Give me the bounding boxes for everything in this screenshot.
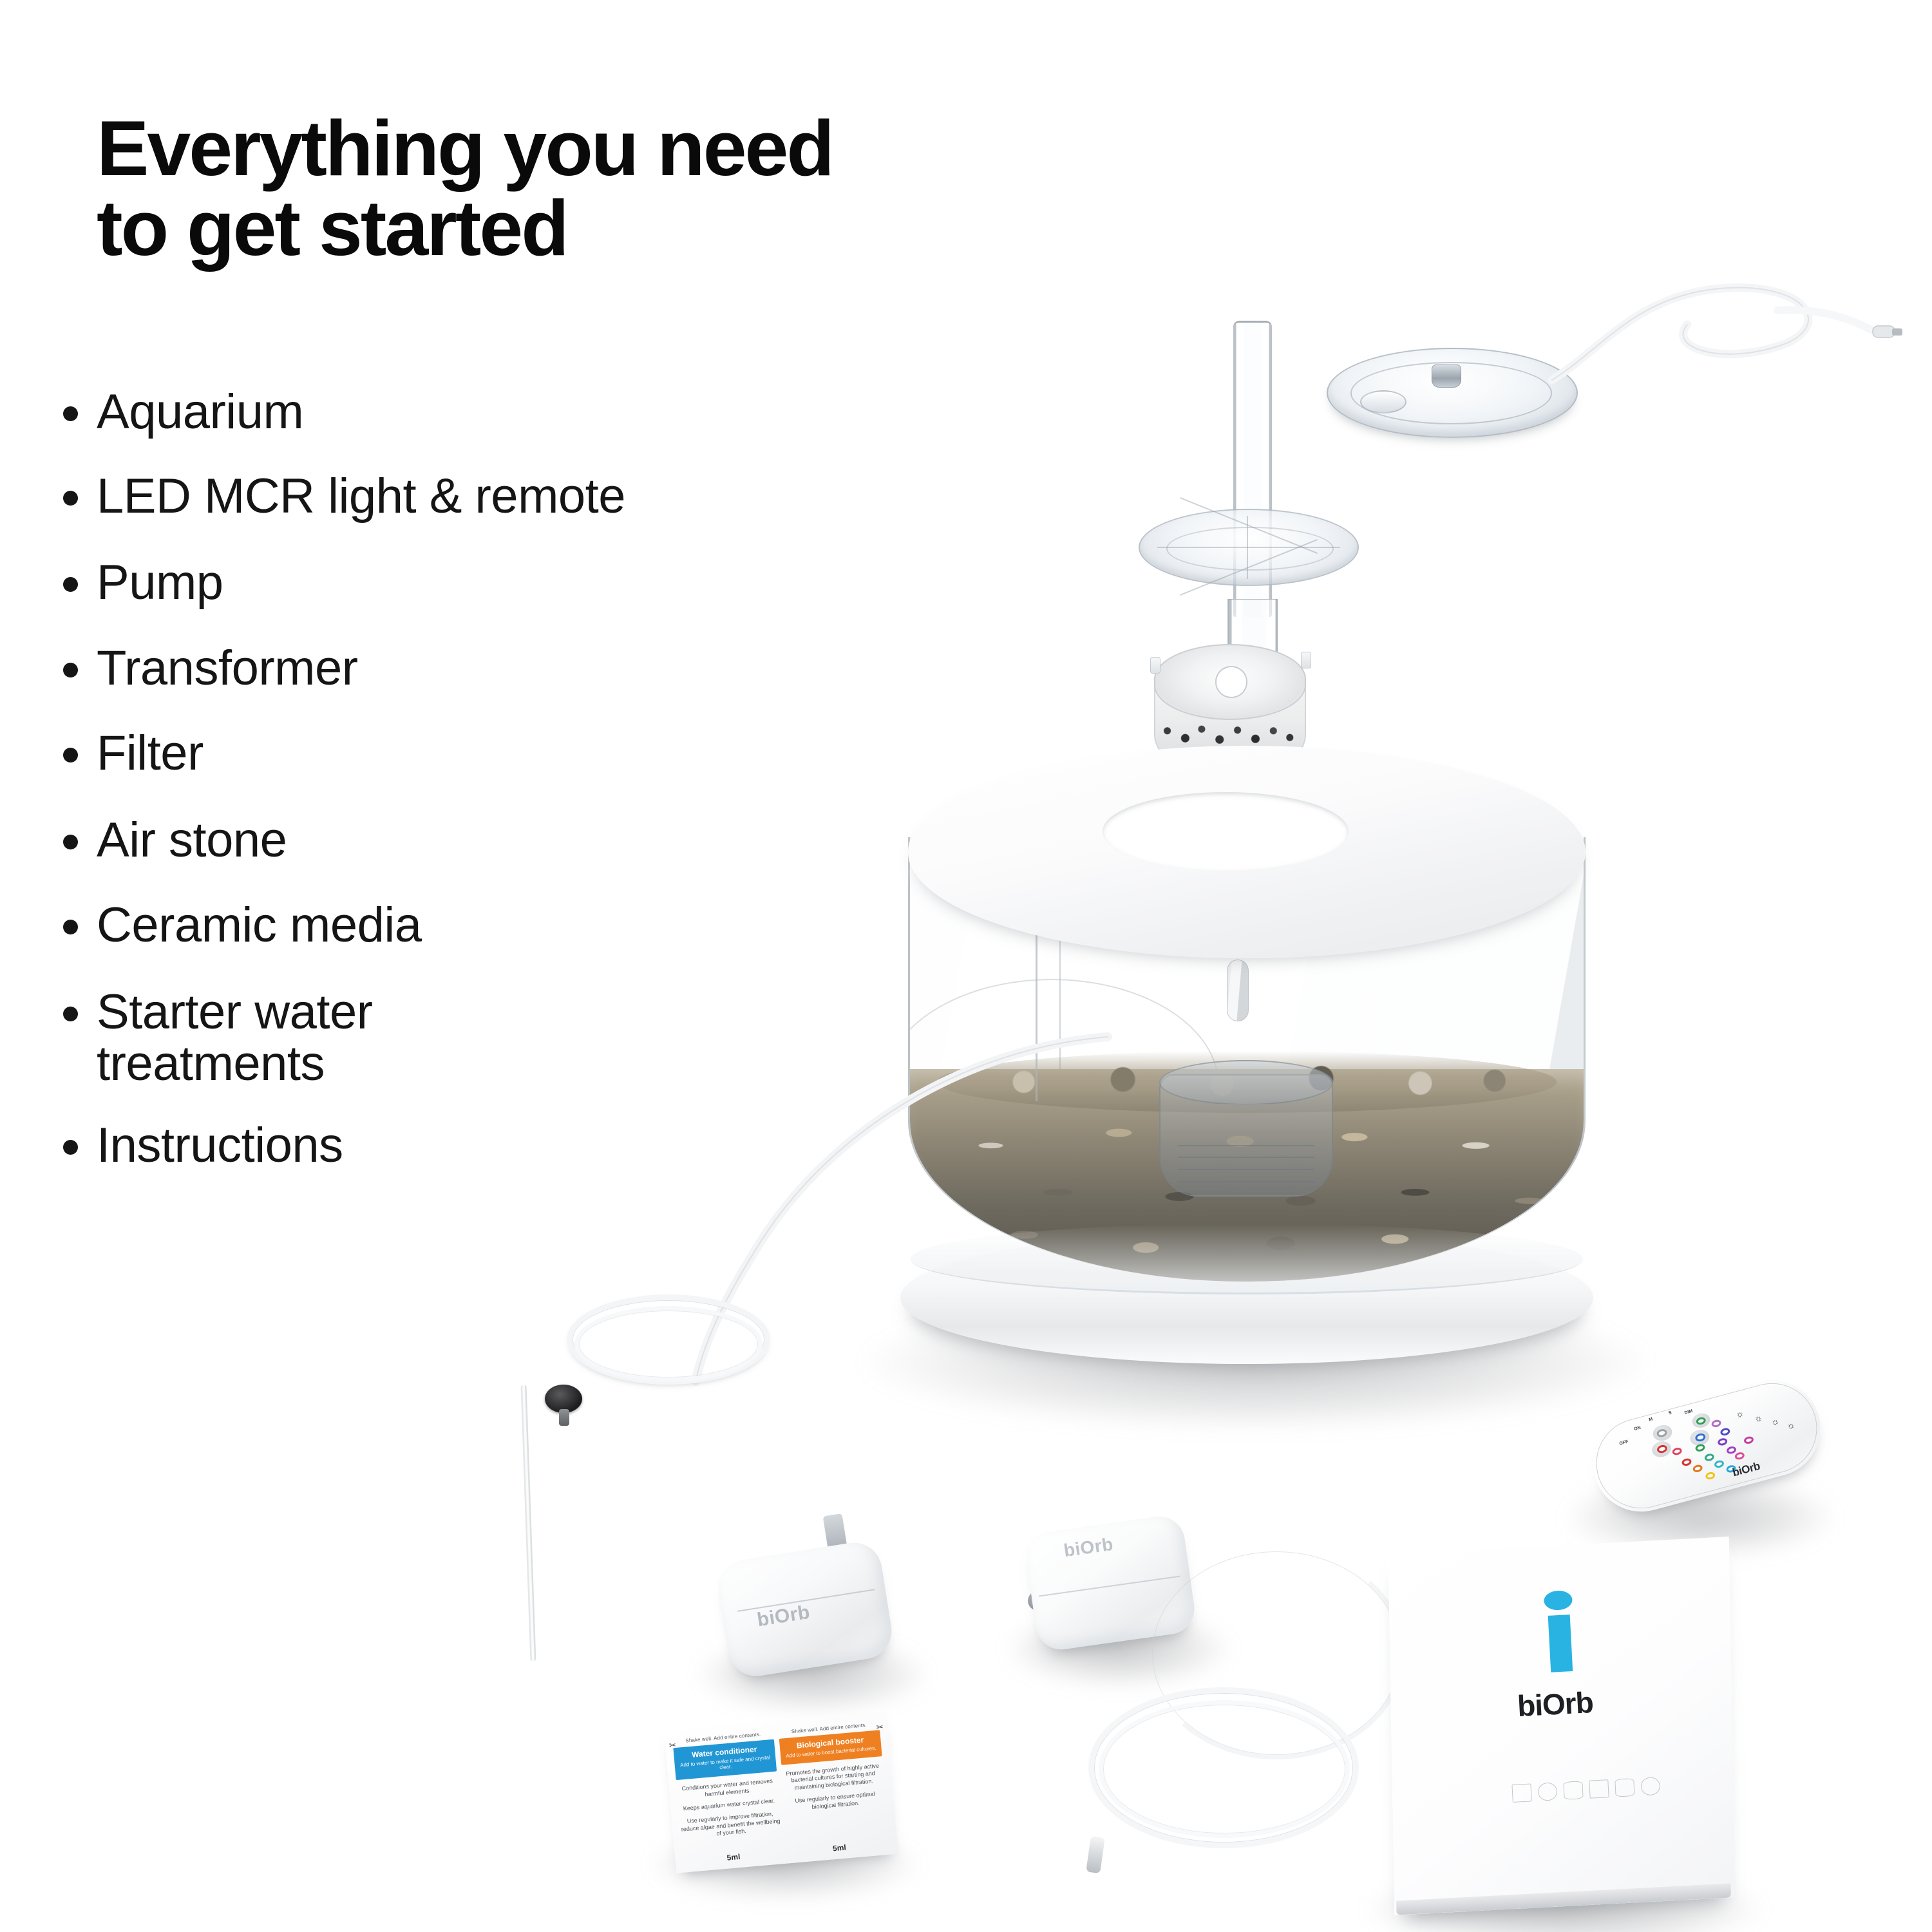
led-light-connector [1432, 365, 1461, 388]
filter-cartridge-sponge [1154, 644, 1306, 720]
info-i-icon [1544, 1590, 1577, 1674]
sachet-biological-booster: ✂ Shake well. Add entire contents. Biolo… [779, 1721, 891, 1857]
led-remote-control: ON OFF M S DIM ☼ ☼ ☼ ☼ [1582, 1369, 1832, 1522]
sachet-water-conditioner: ✂ Shake well. Add entire contents. Water… [672, 1730, 784, 1866]
air-pump-cable-coil-inner [1099, 1700, 1350, 1838]
sachet-volume: 5ml [726, 1848, 741, 1862]
sachet-title-band: Water conditioner Add to water to make i… [673, 1739, 777, 1780]
starter-water-treatment-sachets: ✂ Shake well. Add entire contents. Water… [664, 1711, 898, 1873]
led-light-clip [1360, 390, 1406, 413]
cartridge-tab-right [1301, 652, 1311, 668]
sachet-body-text: Promotes the growth of highly active bac… [782, 1762, 887, 1819]
airline-tubing-coil-inner [574, 1306, 762, 1382]
silhouette-tube-icon [1563, 1781, 1583, 1800]
silhouette-cube-icon [1511, 1783, 1531, 1803]
led-light-cable-icon [1475, 270, 1861, 438]
silhouette-sphere-icon [1537, 1782, 1557, 1801]
aquarium-lid-aperture [1103, 792, 1349, 871]
pump-cage-rim [1159, 1060, 1333, 1105]
sachet-body-text: Conditions your water and removes harmfu… [677, 1777, 783, 1846]
sachet-volume: 5ml [832, 1839, 846, 1853]
airline-tubing-tail [520, 1385, 536, 1662]
product-photo-stage: biOrb biOrb ✂ Shake well. Add entire con… [0, 0, 1932, 1932]
silhouette-flow-icon [1615, 1778, 1634, 1797]
airline-valve-stub [559, 1409, 569, 1426]
booklet-logo: biOrb [1517, 1683, 1622, 1723]
silhouette-halo-icon [1640, 1777, 1660, 1796]
air-stone [1227, 960, 1249, 1021]
air-pump-cable-tip [1086, 1836, 1105, 1874]
silhouette-cube2-icon [1589, 1779, 1609, 1799]
bubble-tube-diffuser-plate [1139, 509, 1359, 586]
sachet-title-band: Biological booster Add to water to boost… [779, 1730, 882, 1765]
cartridge-tab-left [1150, 657, 1160, 674]
